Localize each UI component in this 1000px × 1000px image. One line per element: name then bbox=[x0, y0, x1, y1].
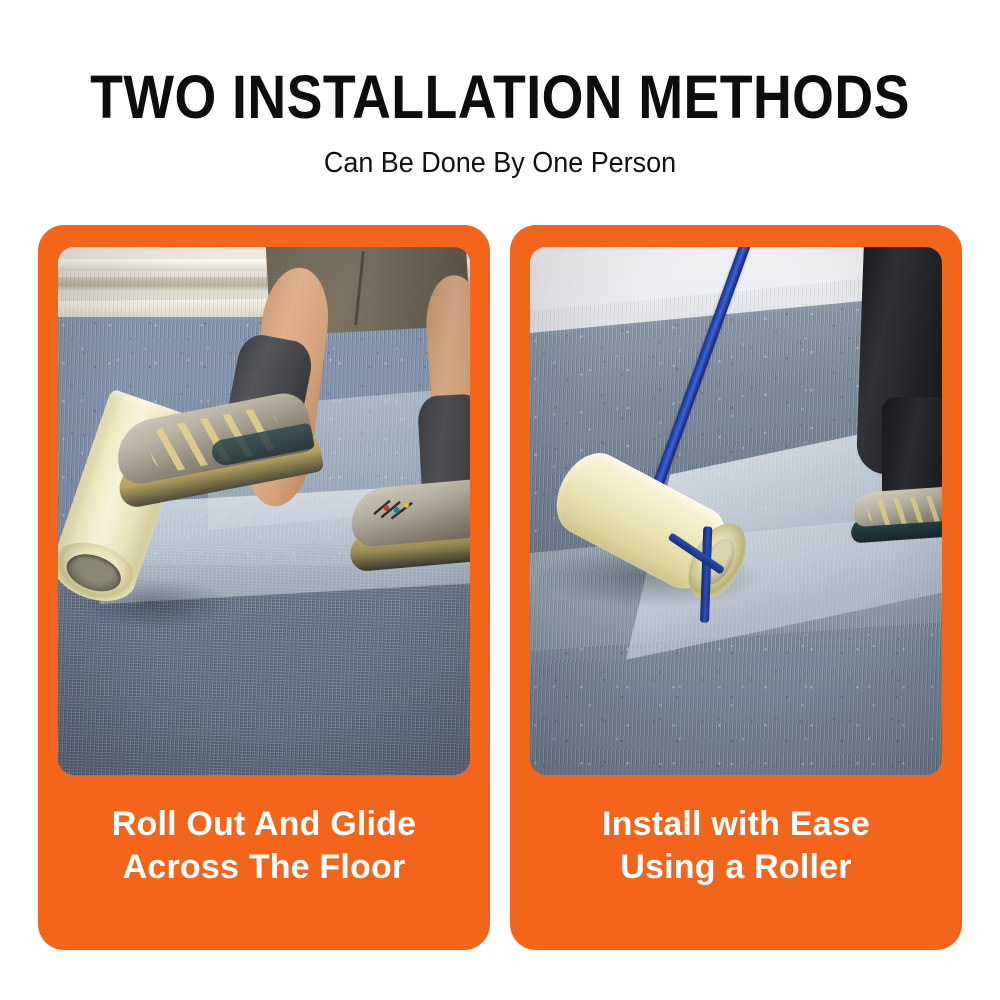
photo-install-with-roller bbox=[530, 247, 942, 775]
caption-install-with-roller: Install with Ease Using a Roller bbox=[510, 803, 962, 889]
caption-line-2: Using a Roller bbox=[510, 846, 962, 889]
method-panels: Roll Out And Glide Across The Floor bbox=[38, 225, 962, 950]
rear-shoe-laces bbox=[369, 489, 433, 524]
page-subtitle: Can Be Done By One Person bbox=[35, 146, 965, 180]
method-panel-install-with-roller: Install with Ease Using a Roller bbox=[510, 225, 962, 950]
caption-roll-out-and-glide: Roll Out And Glide Across The Floor bbox=[38, 803, 490, 889]
method-panel-roll-out-and-glide: Roll Out And Glide Across The Floor bbox=[38, 225, 490, 950]
caption-line-1: Install with Ease bbox=[510, 803, 962, 846]
shoe bbox=[848, 481, 942, 548]
page-title: TWO INSTALLATION METHODS bbox=[60, 66, 940, 128]
lace-svg bbox=[369, 489, 433, 524]
caption-line-2: Across The Floor bbox=[38, 846, 490, 889]
shoe-chevron-stripes bbox=[867, 494, 942, 526]
photo-roll-out-and-glide bbox=[58, 247, 470, 775]
caption-line-1: Roll Out And Glide bbox=[38, 803, 490, 846]
rear-shoe bbox=[344, 468, 470, 578]
header: TWO INSTALLATION METHODS Can Be Done By … bbox=[0, 0, 1000, 210]
